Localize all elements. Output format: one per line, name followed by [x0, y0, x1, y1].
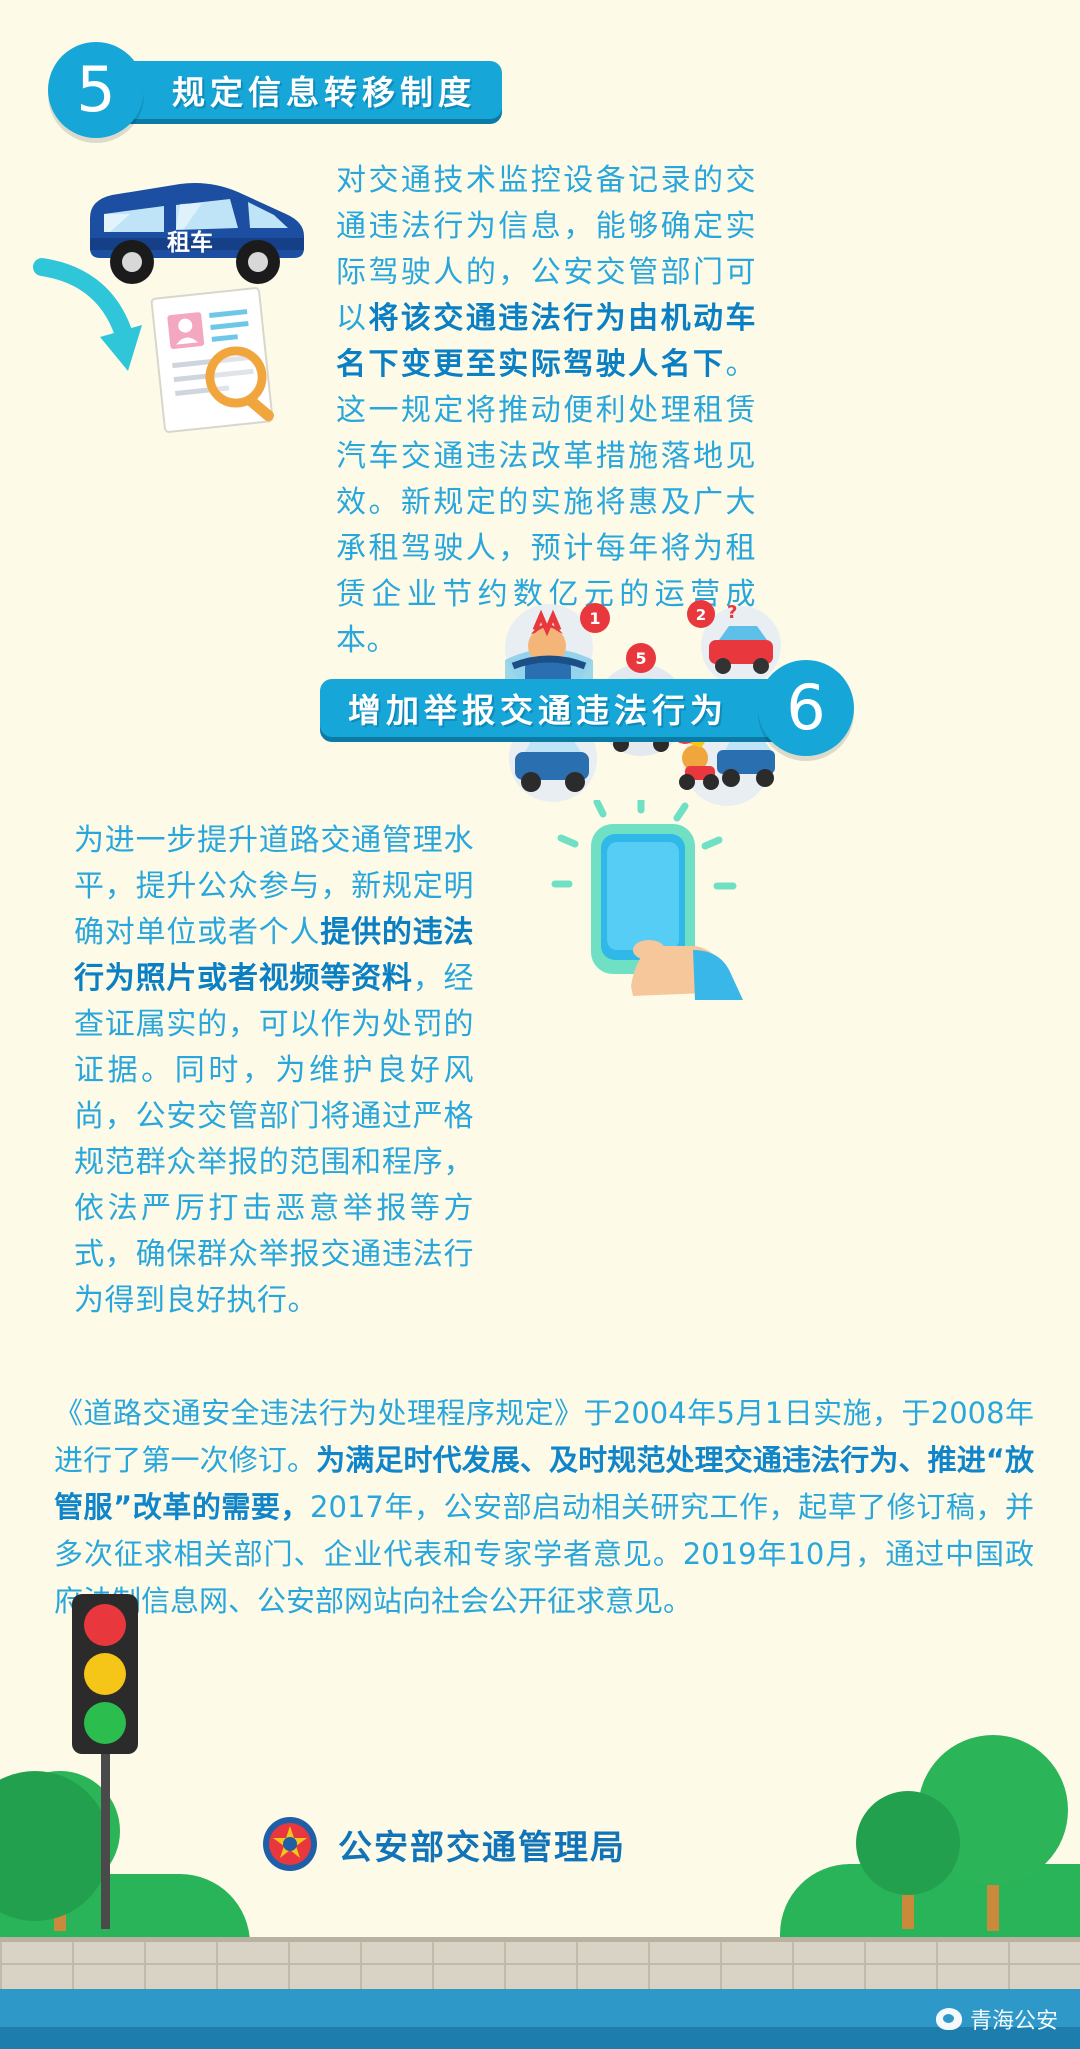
document-magnifier-icon — [140, 285, 300, 435]
traffic-light-yellow — [84, 1653, 126, 1695]
s5-part-1: 将该交通违法行为由机动车名下变更至实际驾驶人名下 — [336, 301, 756, 382]
section-6-title: 增加举报交通违法行为 — [348, 684, 728, 732]
road-edge — [0, 2027, 1080, 2049]
watermark-label: 青海公安 — [970, 2003, 1058, 2035]
brick-wall-pattern — [0, 1937, 1080, 1989]
marker-5: 5 — [635, 649, 646, 668]
tree-icon — [856, 1791, 960, 1929]
infographic-page: 5 规定信息转移制度 租车 — [0, 0, 1080, 2049]
section-5-banner: 5 规定信息转移制度 — [48, 42, 502, 138]
section-6-number: 6 — [758, 660, 854, 756]
traffic-light-red — [84, 1604, 126, 1646]
van-label: 租车 — [167, 229, 213, 256]
marker-1: 1 — [589, 609, 600, 628]
footer-organization: 公安部交通管理局 — [260, 1814, 626, 1874]
section-6-paragraph: 为进一步提升道路交通管理水平，提升公众参与，新规定明确对单位或者个人提供的违法行… — [74, 818, 474, 1324]
marker-2: 2 — [696, 606, 706, 624]
section-6-title-bar: 增加举报交通违法行为 — [320, 679, 788, 737]
traffic-light-pole — [101, 1754, 110, 1929]
watermark: 青海公安 — [936, 2003, 1058, 2035]
traffic-light-icon — [72, 1594, 138, 1929]
footer-org-name: 公安部交通管理局 — [338, 1820, 626, 1869]
phone-hand-icon — [545, 800, 760, 1000]
section-5-number: 5 — [48, 42, 144, 138]
traffic-light-green — [84, 1702, 126, 1744]
section-5-paragraph: 对交通技术监控设备记录的交通违法行为信息，能够确定实际驾驶人的，公安交管部门可以… — [336, 158, 756, 664]
section-5-title-bar: 规定信息转移制度 — [114, 61, 502, 119]
s6-part-2: ，经查证属实的，可以作为处罚的证据。同时，为维护良好风尚，公安交管部门将通过严格… — [74, 961, 474, 1318]
section-5-title: 规定信息转移制度 — [172, 66, 476, 114]
police-badge-icon — [260, 1814, 320, 1874]
weibo-icon — [936, 2008, 962, 2030]
svg-text:?: ? — [727, 602, 737, 623]
